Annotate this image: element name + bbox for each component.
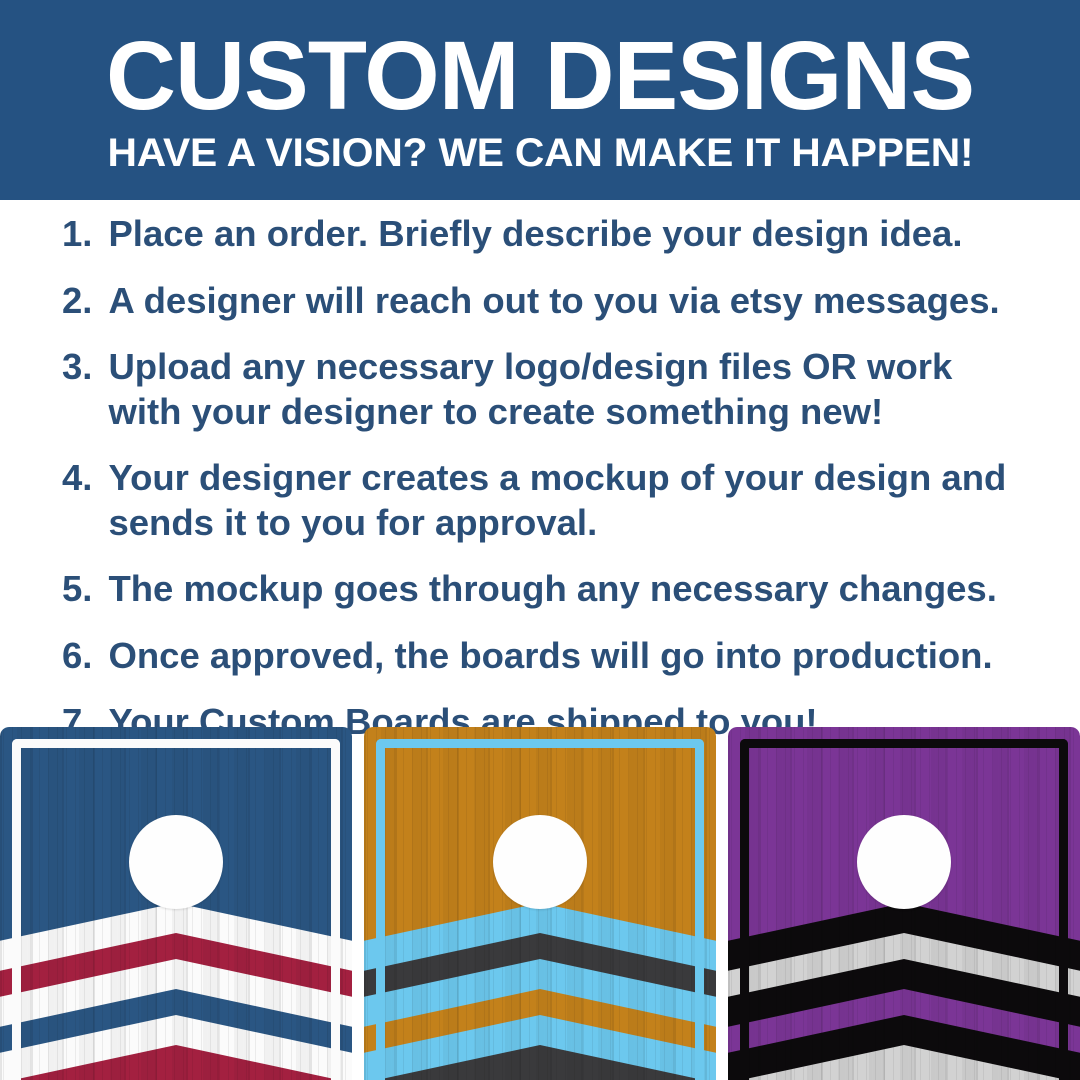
cornhole-board-2 — [364, 727, 716, 1080]
board-hole — [129, 815, 223, 909]
board-border-frame — [740, 739, 1068, 1080]
cornhole-board-3 — [728, 727, 1080, 1080]
list-item-text: A designer will reach out to you via ets… — [108, 279, 1008, 324]
list-item-number: 5. — [62, 567, 108, 612]
list-item-number: 1. — [62, 212, 108, 257]
list-item: 4. Your designer creates a mockup of you… — [62, 456, 1040, 545]
list-item-number: 3. — [62, 345, 108, 390]
page-subtitle: HAVE A VISION? WE CAN MAKE IT HAPPEN! — [107, 122, 973, 174]
board-border-frame — [376, 739, 704, 1080]
list-item-number: 6. — [62, 634, 108, 679]
header-banner: CUSTOM DESIGNS HAVE A VISION? WE CAN MAK… — [0, 0, 1080, 200]
cornhole-board-gallery — [0, 727, 1080, 1080]
board-hole — [493, 815, 587, 909]
list-item: 2. A designer will reach out to you via … — [62, 279, 1040, 324]
list-item: 5. The mockup goes through any necessary… — [62, 567, 1040, 612]
board-border-frame — [12, 739, 340, 1080]
list-item: 6. Once approved, the boards will go int… — [62, 634, 1040, 679]
list-item-text: Once approved, the boards will go into p… — [108, 634, 1008, 679]
cornhole-board-1 — [0, 727, 352, 1080]
list-item-text: Upload any necessary logo/design files O… — [108, 345, 1008, 434]
list-item: 1. Place an order. Briefly describe your… — [62, 212, 1040, 257]
board-hole — [857, 815, 951, 909]
list-item-number: 4. — [62, 456, 108, 501]
list-item-text: Place an order. Briefly describe your de… — [108, 212, 1008, 257]
page-title: CUSTOM DESIGNS — [106, 26, 974, 122]
list-item-number: 2. — [62, 279, 108, 324]
list-item-text: Your designer creates a mockup of your d… — [108, 456, 1008, 545]
list-item-text: The mockup goes through any necessary ch… — [108, 567, 1008, 612]
steps-list: 1. Place an order. Briefly describe your… — [0, 212, 1080, 767]
list-item: 3. Upload any necessary logo/design file… — [62, 345, 1040, 434]
